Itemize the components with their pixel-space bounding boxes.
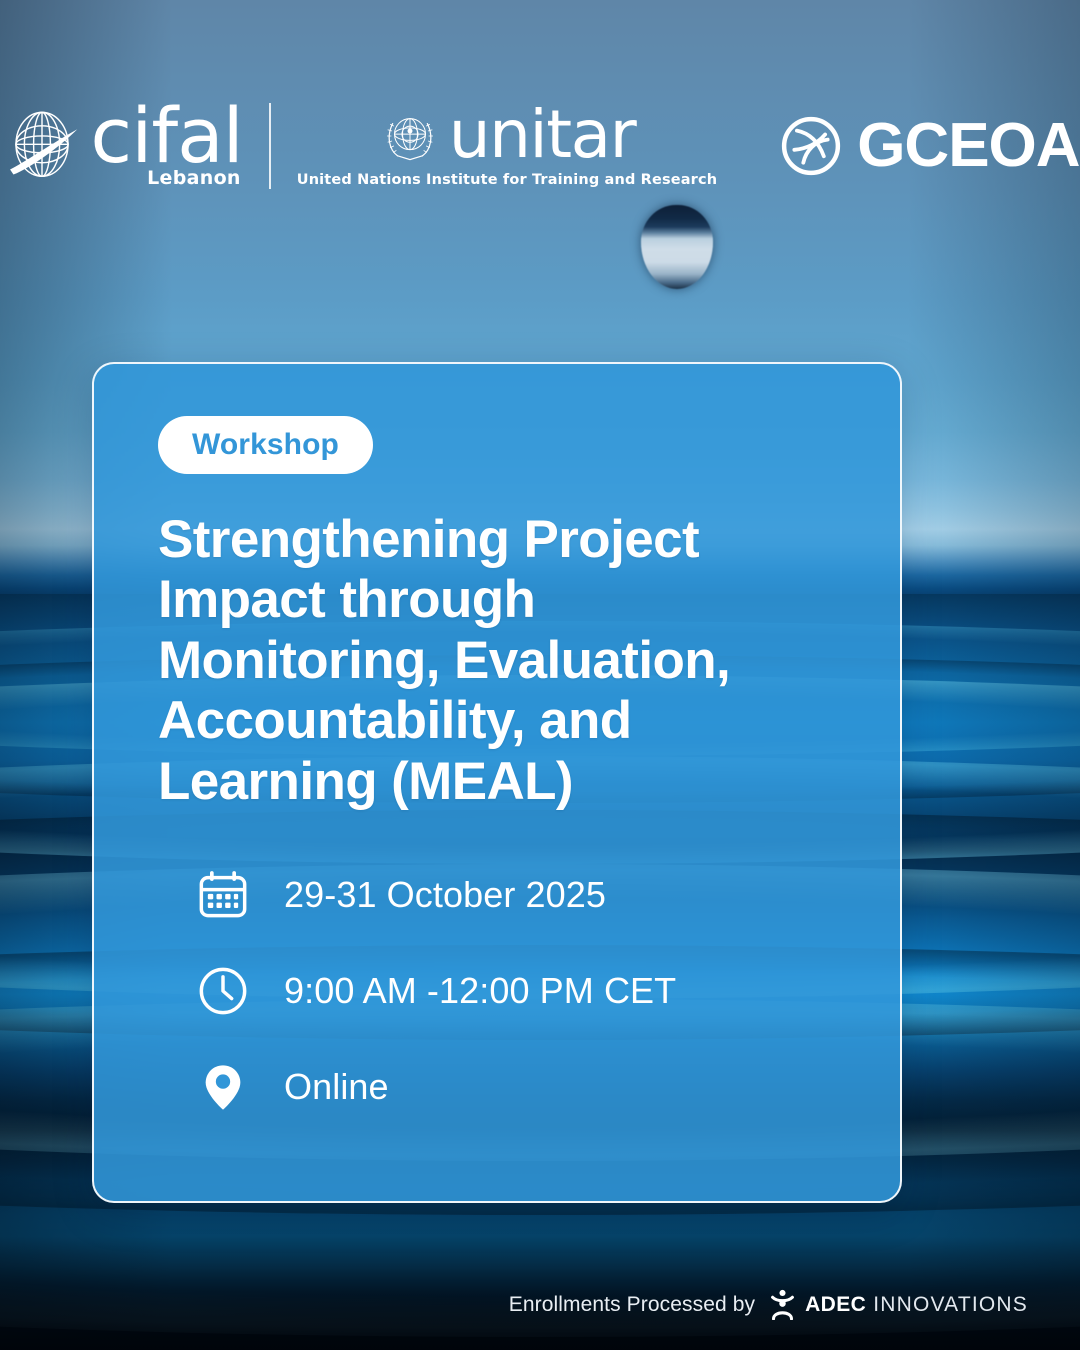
detail-location-label: Online xyxy=(284,1066,389,1108)
adec-person-icon xyxy=(769,1289,796,1320)
cifal-sub: Lebanon xyxy=(147,169,241,188)
badge-label: Workshop xyxy=(192,428,339,462)
footer-text: Enrollments Processed by xyxy=(509,1293,755,1317)
calendar-icon xyxy=(194,866,252,924)
logo-divider xyxy=(269,103,271,189)
adec-wordmark: ADEC INNOVATIONS xyxy=(805,1293,1028,1317)
location-pin-icon xyxy=(194,1058,252,1116)
detail-date-label: 29-31 October 2025 xyxy=(284,874,606,916)
gceoa-globe-icon xyxy=(779,114,843,178)
clock-icon xyxy=(194,962,252,1020)
event-card: Workshop Strengthening Project Impact th… xyxy=(92,362,902,1203)
cifal-wordmark: cifal Lebanon xyxy=(90,104,242,189)
gceoa-name: GCEOA xyxy=(857,115,1079,177)
logo-gceoa: GCEOA xyxy=(779,114,1079,178)
unitar-name: unitar xyxy=(449,107,635,164)
logo-unitar: unitar United Nations Institute for Trai… xyxy=(297,105,717,188)
adec-brand-bold: ADEC xyxy=(805,1293,866,1316)
event-poster: cifal Lebanon xyxy=(0,0,1080,1350)
footer-credit: Enrollments Processed by ADEC INNOVATION… xyxy=(509,1289,1028,1320)
detail-time-label: 9:00 AM -12:00 PM CET xyxy=(284,970,676,1012)
page-title: Strengthening Project Impact through Mon… xyxy=(158,510,798,812)
adec-innovations-logo: ADEC INNOVATIONS xyxy=(769,1289,1028,1320)
un-emblem-icon xyxy=(379,105,441,167)
unitar-sub: United Nations Institute for Training an… xyxy=(297,172,717,188)
detail-row-date: 29-31 October 2025 xyxy=(194,866,840,924)
detail-row-location: Online xyxy=(194,1058,840,1116)
adec-brand-light: INNOVATIONS xyxy=(873,1293,1028,1316)
globe-wireframe-icon xyxy=(0,104,84,188)
partner-logo-bar: cifal Lebanon xyxy=(0,96,1080,196)
cifal-name: cifal xyxy=(90,104,242,168)
logo-cifal-lebanon: cifal Lebanon xyxy=(0,104,242,189)
status-badge: Workshop xyxy=(158,416,373,474)
event-details-list: 29-31 October 2025 9:00 AM -12:00 PM CET xyxy=(194,866,840,1116)
detail-row-time: 9:00 AM -12:00 PM CET xyxy=(194,962,840,1020)
